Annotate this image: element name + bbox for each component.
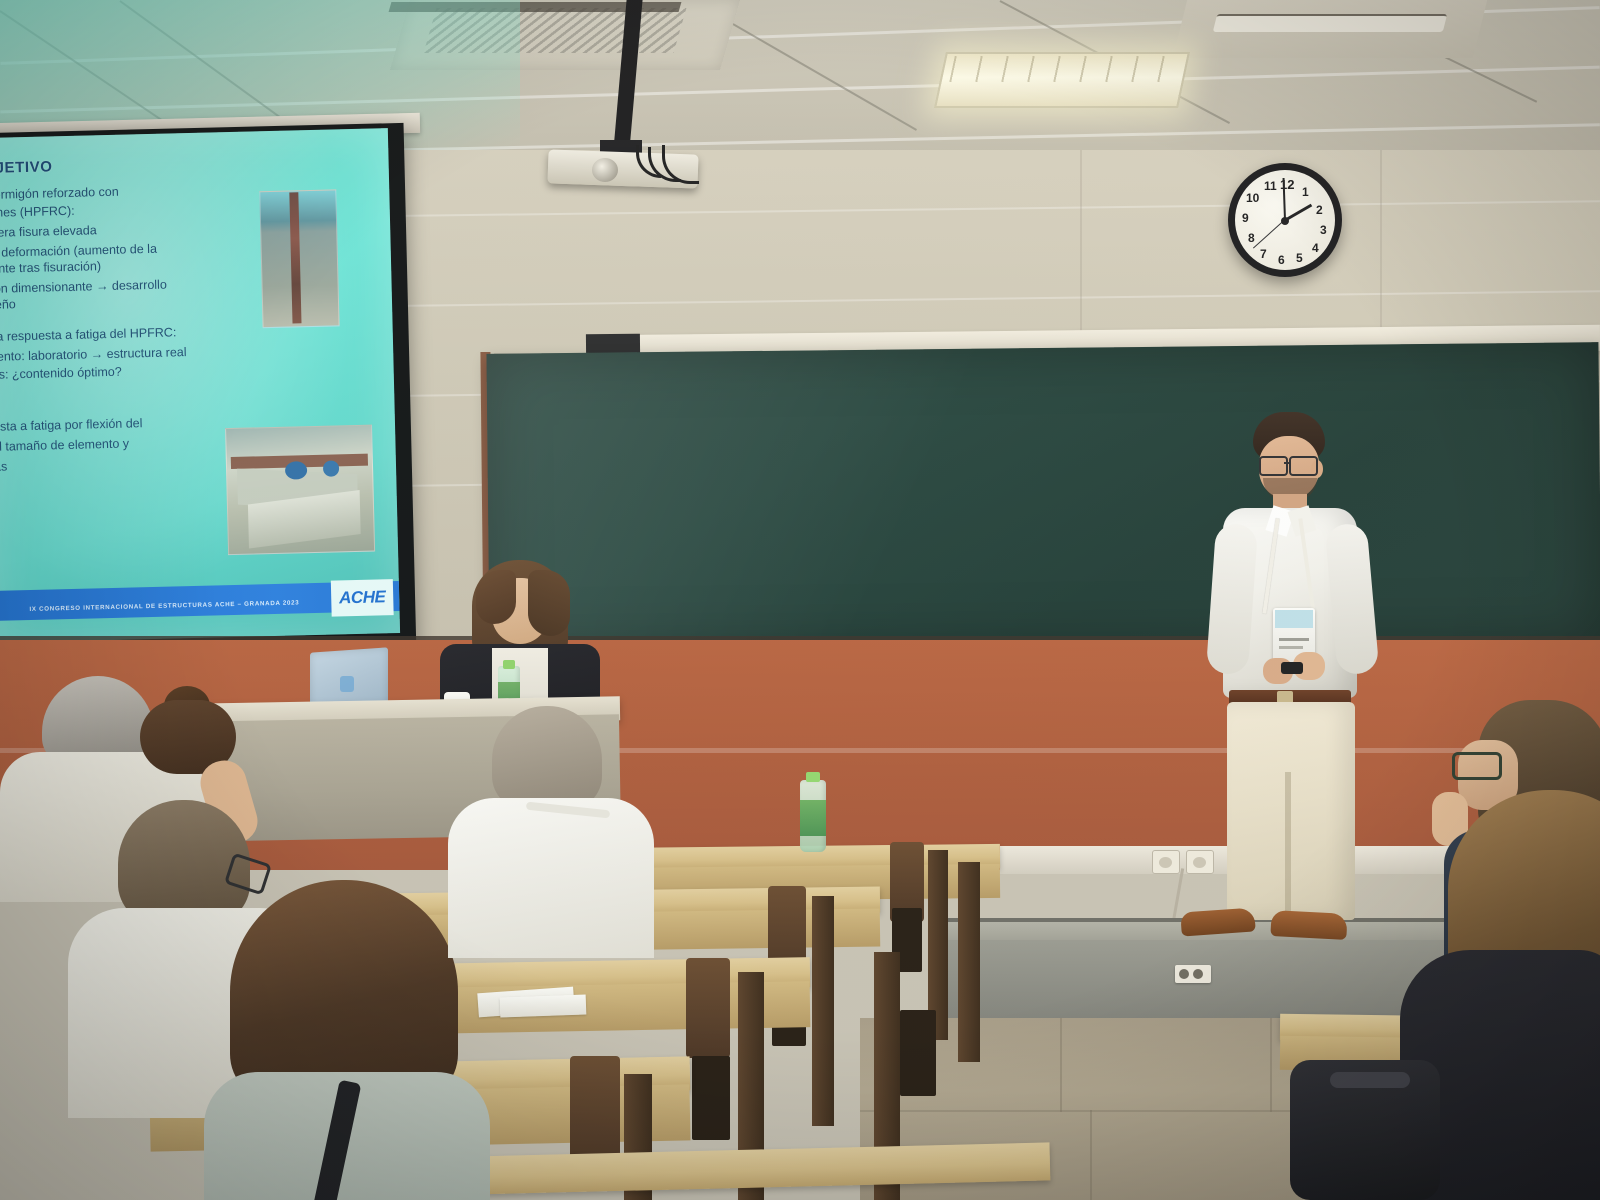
bag-handle [1330, 1072, 1410, 1088]
blackboard-rail-cap [586, 334, 640, 355]
bench-bracket [900, 1010, 936, 1096]
blackboard [486, 342, 1600, 654]
water-bottle-bench [800, 768, 826, 852]
clock-numeral-10: 10 [1246, 191, 1259, 205]
bottle-cap [806, 772, 820, 782]
floor-tile [1060, 1018, 1272, 1112]
glasses-bridge [1284, 462, 1289, 464]
bottle-label [800, 800, 826, 836]
presentation-clicker-icon[interactable] [1281, 662, 1303, 674]
clock-numeral-8: 8 [1248, 231, 1255, 245]
projector-lens-icon [592, 158, 618, 182]
badge-text-line [1279, 638, 1309, 641]
trouser-seam [1285, 772, 1291, 922]
audience-torso [448, 798, 654, 958]
glasses-icon [1289, 456, 1318, 476]
bench-end-cap [686, 958, 730, 1058]
presenter-trousers [1227, 702, 1355, 920]
badge-text-line [1279, 646, 1303, 649]
slide-line: rios de diseño [0, 297, 16, 314]
bench-bracket [692, 1056, 730, 1140]
ache-logo-text: ACHE [339, 587, 386, 608]
audience-hair [230, 880, 458, 1102]
ac-vane-secondary [1213, 14, 1447, 32]
clock-numeral-1: 1 [1302, 185, 1309, 199]
glasses-icon [1452, 752, 1502, 780]
wall-clock: 12 1 2 3 4 5 6 7 8 9 10 11 [1228, 163, 1342, 277]
glasses-icon [1259, 456, 1288, 476]
clock-center-pin [1281, 217, 1289, 225]
lecture-hall-photo: 12 1 2 3 4 5 6 7 8 9 10 11 ÓN Y OBJETIVO… [0, 0, 1600, 1200]
bench-leg [958, 862, 980, 1062]
audience-member [460, 706, 670, 966]
clock-numeral-9: 9 [1242, 211, 1249, 225]
projector-cables [636, 145, 700, 187]
slide-line: do de fibras [0, 459, 7, 475]
chair-hair-strand [476, 570, 516, 624]
chair-hair-strand [528, 570, 570, 636]
badge-header [1275, 610, 1313, 628]
clock-numeral-11: 11 [1264, 179, 1277, 193]
wall-outlet-icon[interactable] [1152, 850, 1180, 874]
clock-numeral-7: 7 [1260, 247, 1267, 261]
presentation-slide: ÓN Y OBJETIVO fatiga en hormigón reforza… [0, 128, 400, 643]
floor-outlet-icon[interactable] [1175, 965, 1211, 983]
audience-hair [42, 676, 154, 764]
bench-end-cap [570, 1056, 620, 1168]
presenter-shoe-right [1270, 910, 1347, 940]
ache-logo: ACHE [331, 579, 394, 617]
presenter-shoe-left [1180, 907, 1255, 936]
laptop-logo-icon [340, 676, 354, 692]
blackboard-sheen [486, 342, 1600, 654]
slide-image-test-setup [225, 425, 375, 556]
presenter [1185, 412, 1415, 952]
clock-numeral-6: 6 [1278, 253, 1285, 267]
clock-numeral-5: 5 [1296, 251, 1303, 265]
bottle-cap [503, 660, 515, 669]
clock-numeral-3: 3 [1320, 223, 1327, 237]
bench-leg [812, 896, 834, 1126]
ceiling-light-grid [949, 56, 1171, 82]
clock-numeral-2: 2 [1316, 203, 1323, 217]
audience-head [492, 706, 602, 810]
clock-numeral-4: 4 [1312, 241, 1319, 255]
